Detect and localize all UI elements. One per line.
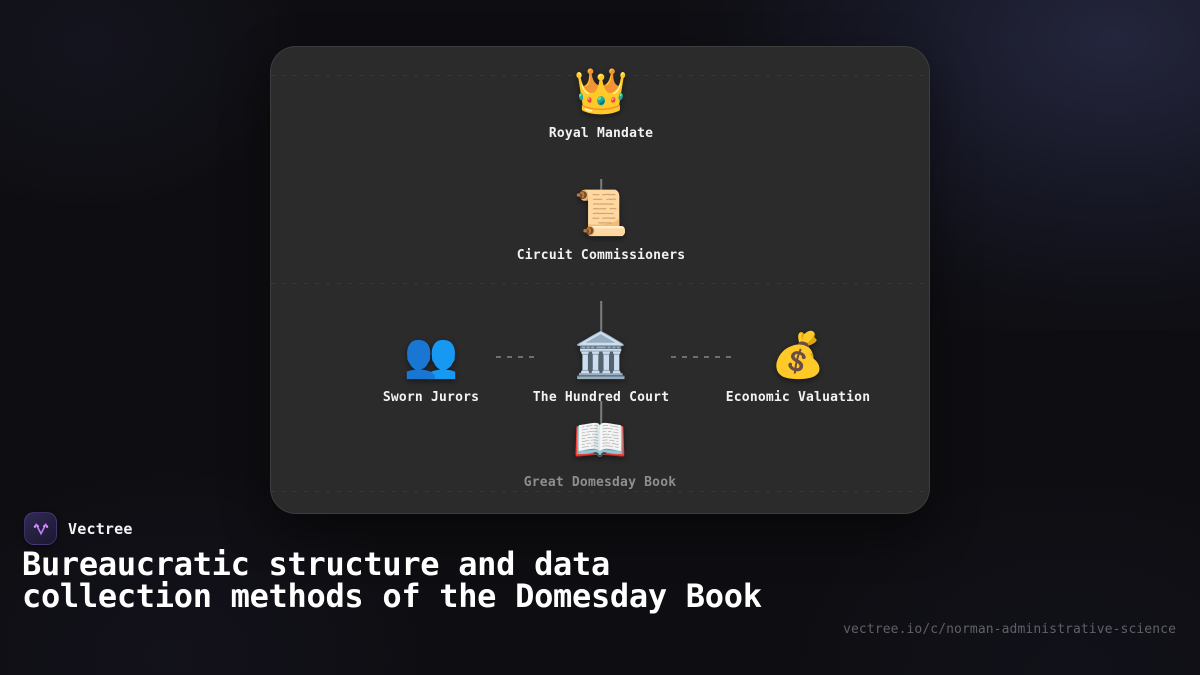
background-glow-top-left <box>0 0 300 210</box>
open-book-icon: 📖 <box>573 416 628 466</box>
node-label: Economic Valuation <box>726 390 870 405</box>
diagram-node-economic-valuation[interactable]: 💰 Economic Valuation <box>668 331 928 405</box>
money-bag-icon: 💰 <box>771 331 826 381</box>
vectree-logo-icon <box>24 512 57 545</box>
grid-line <box>271 283 929 284</box>
node-label: Royal Mandate <box>549 126 653 141</box>
node-label: The Hundred Court <box>533 390 669 405</box>
crown-icon: 👑 <box>574 67 629 117</box>
grid-line <box>271 491 929 492</box>
node-label: Circuit Commissioners <box>517 248 686 263</box>
diagram-node-great-domesday-book[interactable]: 📖 Great Domesday Book <box>470 416 730 490</box>
diagram-node-circuit-commissioners[interactable]: 📜 Circuit Commissioners <box>471 189 731 263</box>
page-title: Bureaucratic structure and data collecti… <box>22 548 812 612</box>
brand-row: Vectree <box>24 512 133 545</box>
node-label: Sworn Jurors <box>383 390 479 405</box>
scroll-icon: 📜 <box>574 189 629 239</box>
node-label: Great Domesday Book <box>524 475 677 490</box>
brand-name: Vectree <box>68 520 133 538</box>
diagram-node-royal-mandate[interactable]: 👑 Royal Mandate <box>471 67 731 141</box>
classical-building-icon: 🏛️ <box>574 331 629 381</box>
footer-url: vectree.io/c/norman-administrative-scien… <box>843 622 1176 637</box>
busts-in-silhouette-icon: 👥 <box>404 331 459 381</box>
